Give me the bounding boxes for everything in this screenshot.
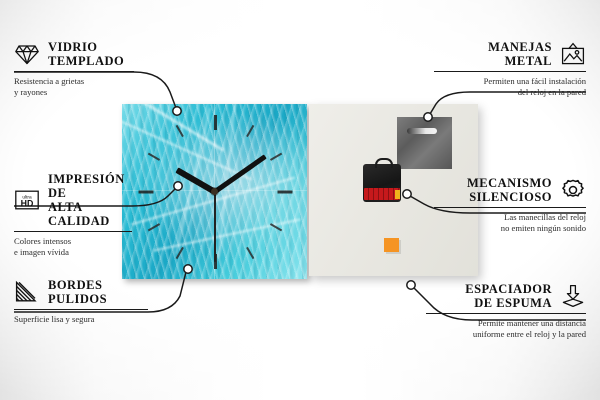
callout-title-line2: ALTA CALIDAD xyxy=(48,200,132,228)
callout-title-line2: SILENCIOSO xyxy=(467,190,552,204)
callout-title-line1: VIDRIO xyxy=(48,40,124,54)
picture-hanger-icon xyxy=(560,42,586,66)
callout-manejas-metal[interactable]: MANEJAS METAL Permiten una fácil instala… xyxy=(434,40,586,98)
callout-desc-line1: Resistencia a grietas xyxy=(14,76,134,87)
clock-hour-mark xyxy=(147,223,159,231)
clock-hour-mark xyxy=(246,124,254,136)
hanger-slot xyxy=(407,128,437,134)
ultra-hd-icon-big-label: HD xyxy=(21,198,34,208)
clock-hour-mark xyxy=(147,152,159,160)
hanger-loop xyxy=(375,158,393,168)
callout-desc-line1: Permite mantener una distancia xyxy=(426,318,586,329)
gear-icon xyxy=(560,178,586,202)
battery-terminal xyxy=(395,190,400,199)
callout-title-line1: MECANISMO xyxy=(467,176,552,190)
infographic-canvas: VIDRIO TEMPLADO Resistencia a grietas y … xyxy=(0,0,600,400)
callout-desc-line1: Superficie lisa y segura xyxy=(14,314,148,325)
clock-hour-mark xyxy=(246,246,254,258)
callout-title-line2: PULIDOS xyxy=(48,292,107,306)
clock-hour-mark xyxy=(269,152,281,160)
clock-center-pin xyxy=(211,188,218,195)
callout-title-line1: BORDES xyxy=(48,278,107,292)
callout-desc-line2: y rayones xyxy=(14,87,134,98)
diamond-icon xyxy=(14,42,40,66)
callout-title-line1: ESPACIADOR xyxy=(465,282,552,296)
quartz-movement xyxy=(363,164,401,202)
polished-edge-icon xyxy=(14,280,40,304)
metal-hanger-plate xyxy=(397,117,452,169)
callout-rule xyxy=(14,309,148,310)
foam-spacer xyxy=(384,238,399,252)
callout-desc-line2: no emiten ningún sonido xyxy=(434,223,586,234)
callout-rule xyxy=(14,231,132,232)
feather-strand xyxy=(131,177,295,226)
callout-rule xyxy=(434,207,586,208)
clock-hour-mark xyxy=(138,190,153,193)
callout-title-line2: METAL xyxy=(488,54,552,68)
callout-vidrio-templado[interactable]: VIDRIO TEMPLADO Resistencia a grietas y … xyxy=(14,40,134,98)
callout-espaciador-espuma[interactable]: ESPACIADOR DE ESPUMA Permite mantener un… xyxy=(426,282,586,340)
callout-title-line1: MANEJAS xyxy=(488,40,552,54)
callout-bordes-pulidos[interactable]: BORDES PULIDOS Superficie lisa y segura xyxy=(14,278,148,325)
callout-desc-line2: uniforme entre el reloj y la pared xyxy=(426,329,586,340)
callout-rule xyxy=(14,71,134,72)
callout-desc-line1: Permiten una fácil instalación xyxy=(434,76,586,87)
callout-title-line2: DE ESPUMA xyxy=(465,296,552,310)
callout-desc-line1: Colores intensos xyxy=(14,236,132,247)
clock-hour-mark xyxy=(277,190,292,193)
product-image xyxy=(122,104,478,284)
ultra-hd-icon: ultra HD xyxy=(14,188,40,212)
callout-desc-line2: e imagen vívida xyxy=(14,247,132,258)
clock-front-panel xyxy=(122,104,307,279)
callout-rule xyxy=(426,313,586,314)
callout-rule xyxy=(434,71,586,72)
callout-desc-line1: Las manecillas del reloj xyxy=(434,212,586,223)
clock-second-hand xyxy=(214,192,216,262)
callout-mecanismo-silencioso[interactable]: MECANISMO SILENCIOSO Las manecillas del … xyxy=(434,176,586,234)
clock-hour-mark xyxy=(214,115,217,130)
callout-impresion-alta-calidad[interactable]: ultra HD IMPRESIÓN DE ALTA CALIDAD Color… xyxy=(14,172,132,258)
callout-title-line1: IMPRESIÓN DE xyxy=(48,172,132,200)
callout-title-line2: TEMPLADO xyxy=(48,54,124,68)
foam-spacer-icon xyxy=(560,284,586,308)
callout-desc-line2: del reloj en la pared xyxy=(434,87,586,98)
feather-strand xyxy=(153,218,300,251)
